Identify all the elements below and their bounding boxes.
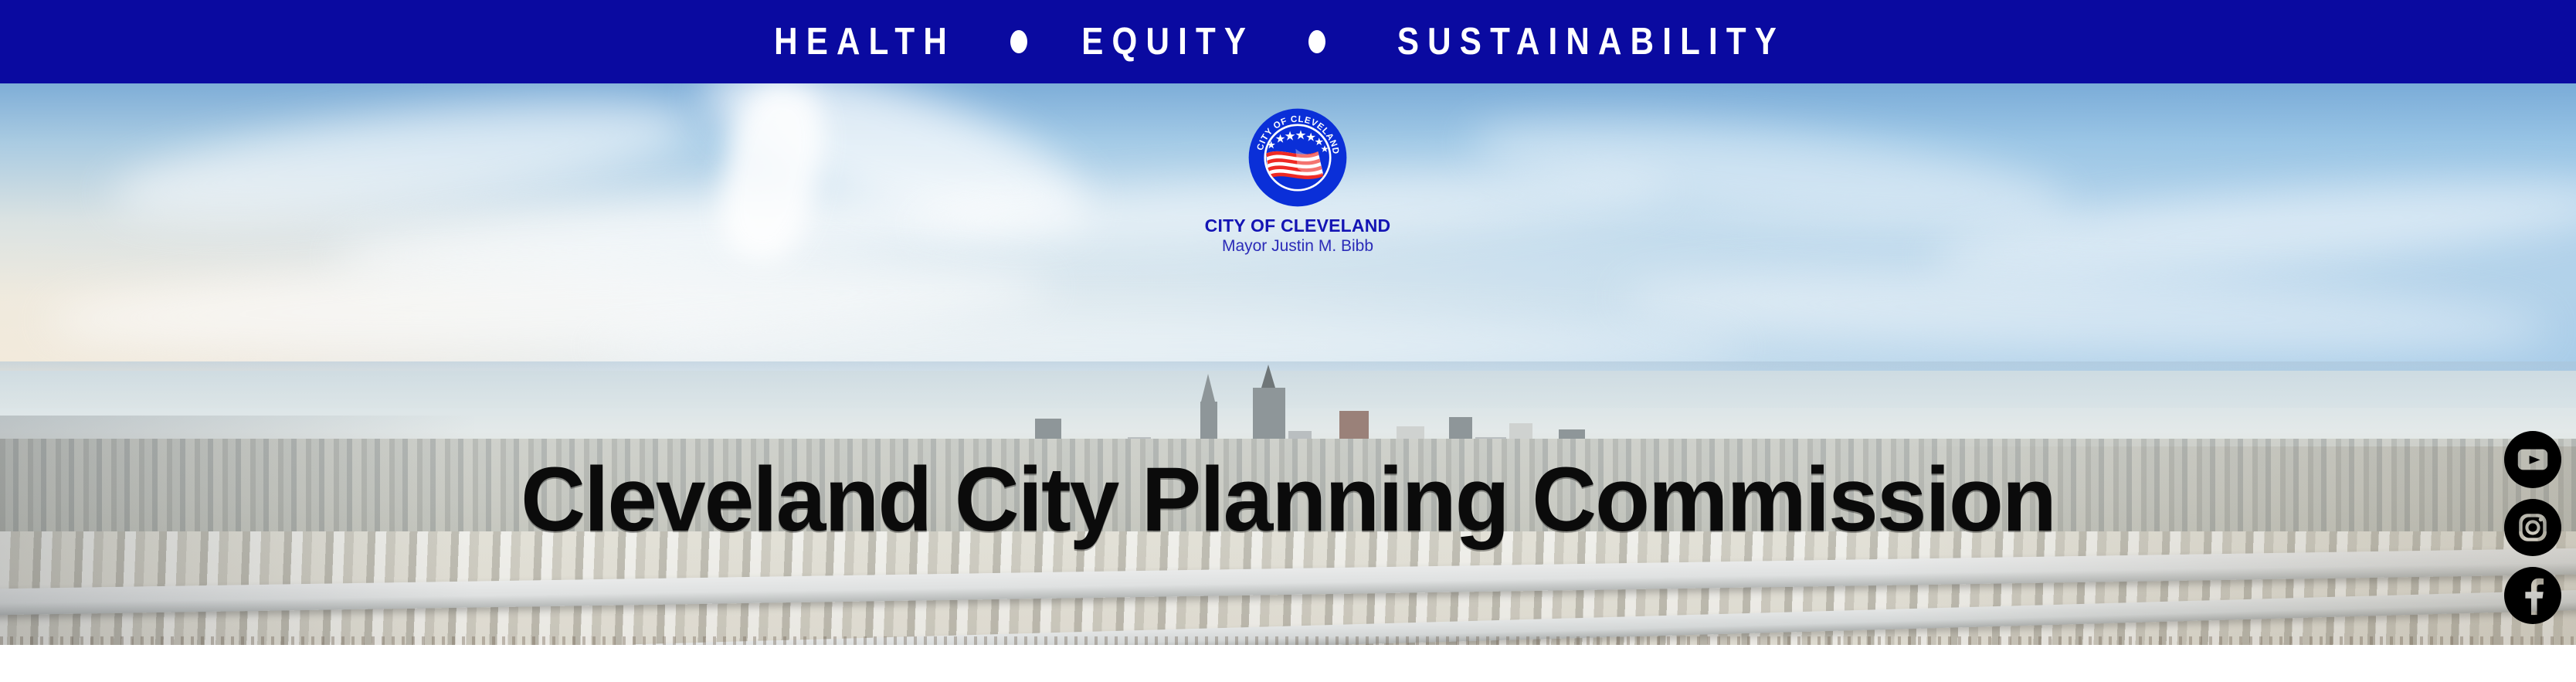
planning-commission-banner: HEALTH EQUITY SUSTAINABILITY	[0, 0, 2576, 682]
slogan-inner: HEALTH EQUITY SUSTAINABILITY	[759, 23, 1817, 61]
instagram-icon[interactable]	[2504, 499, 2561, 556]
slogan-bar: HEALTH EQUITY SUSTAINABILITY	[0, 0, 2576, 83]
slogan-word-sustainability: SUSTAINABILITY	[1397, 23, 1785, 61]
city-of-cleveland-seal-icon: CITY OF CLEVELAND OHIO	[1247, 107, 1349, 209]
bullet-dot-icon	[1308, 30, 1325, 53]
facebook-icon[interactable]	[2504, 567, 2561, 624]
bullet-dot-icon	[1010, 30, 1027, 53]
slogan-word-equity: EQUITY	[1081, 23, 1254, 61]
city-branding-block: CITY OF CLEVELAND OHIO CITY OF CLEVELAND…	[1201, 107, 1394, 255]
slogan-word-health: HEALTH	[774, 23, 955, 61]
social-links	[2503, 431, 2562, 624]
city-name-label: CITY OF CLEVELAND	[1201, 216, 1394, 235]
youtube-icon[interactable]	[2504, 431, 2561, 488]
page-title: Cleveland City Planning Commission	[19, 454, 2557, 545]
mayor-name-label: Mayor Justin M. Bibb	[1201, 238, 1394, 255]
